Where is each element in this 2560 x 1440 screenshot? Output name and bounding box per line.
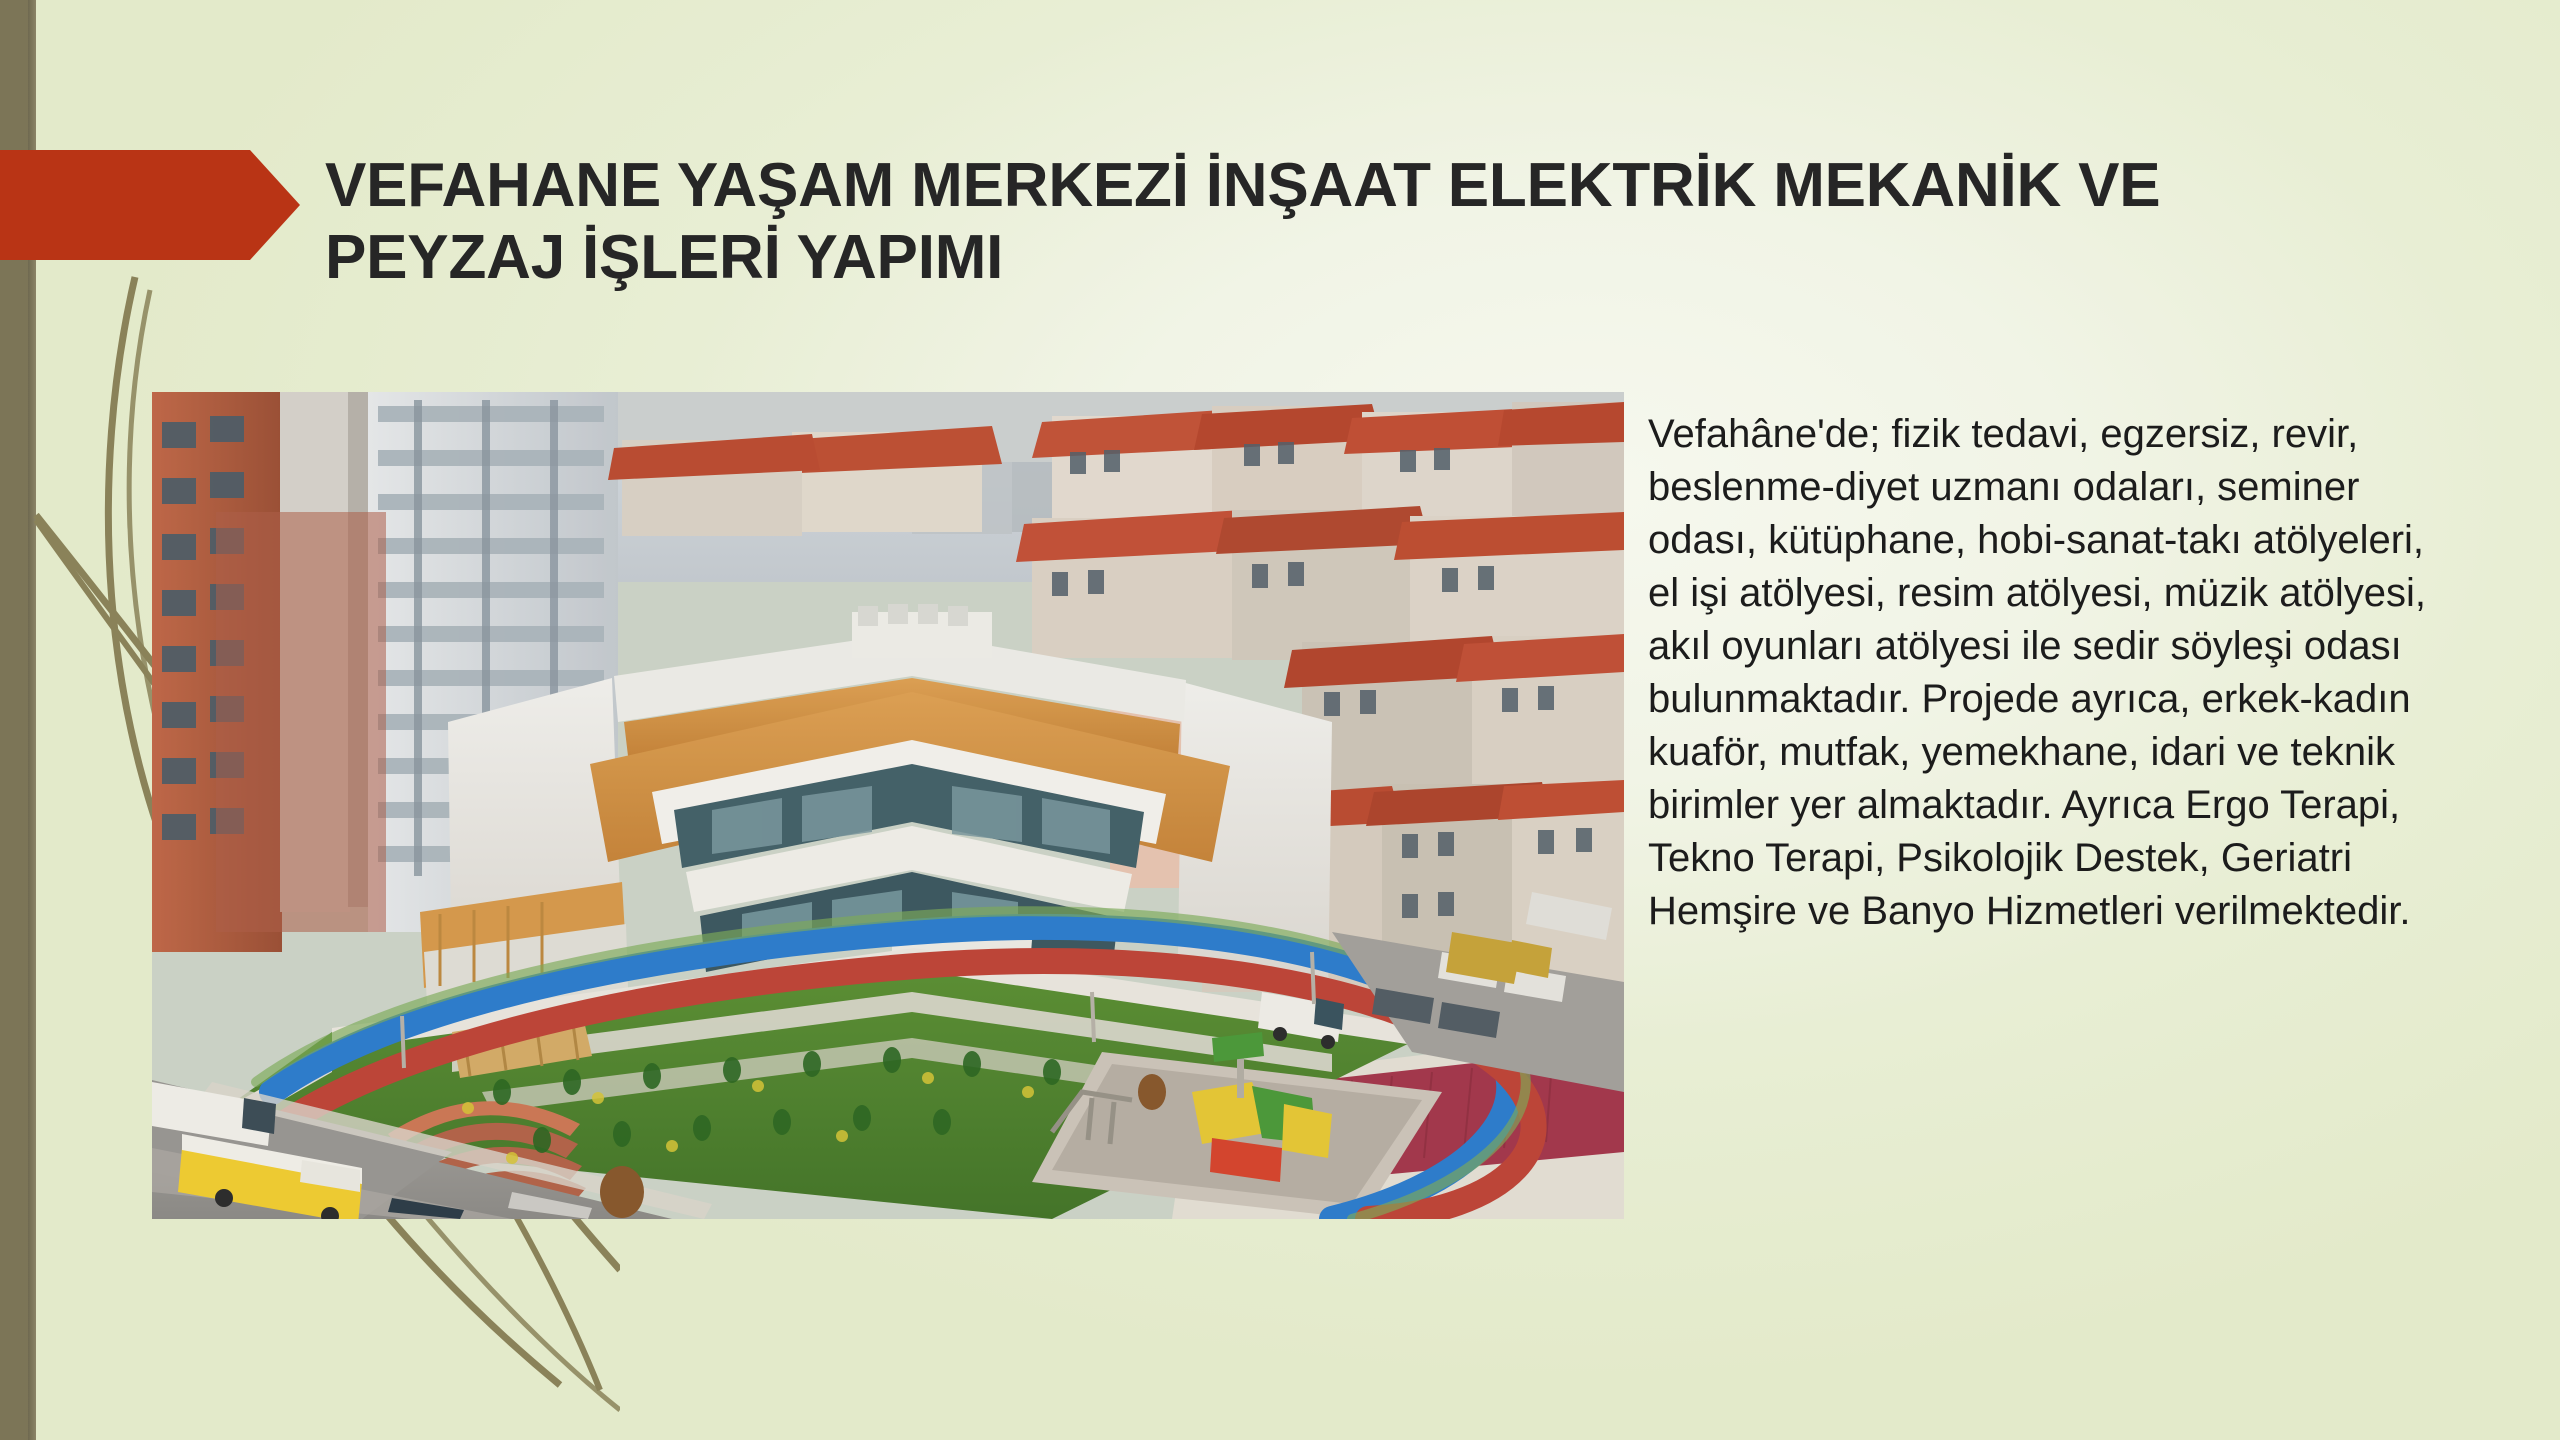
description-text: Vefahâne'de; fizik tedavi, egzersiz, rev…	[1648, 408, 2448, 938]
presentation-slide: VEFAHANE YAŞAM MERKEZİ İNŞAAT ELEKTRİK M…	[0, 0, 2560, 1440]
project-photo	[152, 392, 1624, 1219]
page-title: VEFAHANE YAŞAM MERKEZİ İNŞAAT ELEKTRİK M…	[325, 150, 2415, 294]
description-paragraph: Vefahâne'de; fizik tedavi, egzersiz, rev…	[1648, 408, 2448, 938]
title-banner-arrow	[0, 150, 300, 260]
